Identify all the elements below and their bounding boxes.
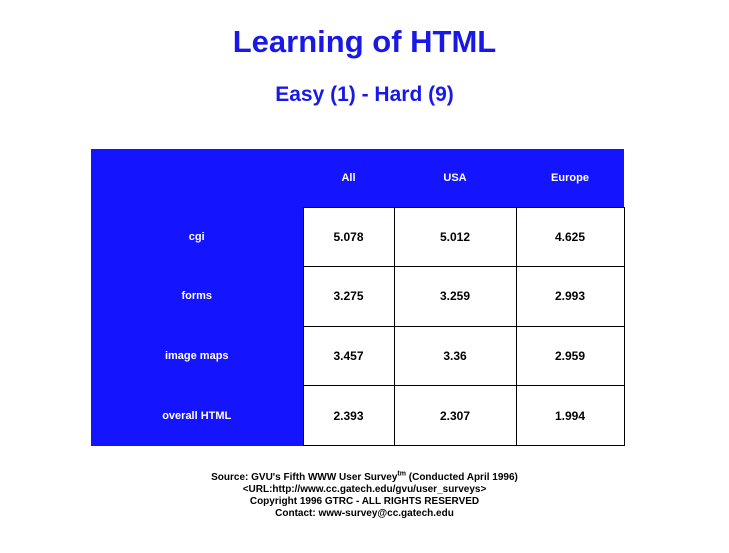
cell-image-maps-all: 3.457 <box>303 326 394 386</box>
cell-cgi-usa: 5.012 <box>394 207 516 267</box>
column-header-all: All <box>303 149 394 207</box>
learning-of-html-table: All USA Europe cgi 5.078 5.012 4.625 for… <box>91 149 625 446</box>
page-title: Learning of HTML <box>0 24 729 60</box>
footer-source-date: (Conducted April 1996) <box>406 472 518 483</box>
cell-forms-europe: 2.993 <box>516 267 624 327</box>
cell-image-maps-usa: 3.36 <box>394 326 516 386</box>
table-header-row: All USA Europe <box>91 149 624 207</box>
cell-cgi-europe: 4.625 <box>516 207 624 267</box>
column-header-usa: USA <box>394 149 516 207</box>
footer-source-line: Source: GVU's Fifth WWW User Surveytm (C… <box>0 472 729 484</box>
footer-credits: Source: GVU's Fifth WWW User Surveytm (C… <box>0 472 729 520</box>
table-row: overall HTML 2.393 2.307 1.994 <box>91 386 624 446</box>
cell-overall-html-europe: 1.994 <box>516 386 624 446</box>
footer-source-text: Source: GVU's Fifth WWW User Survey <box>211 472 397 483</box>
trademark-mark: tm <box>397 471 406 478</box>
table-row: image maps 3.457 3.36 2.959 <box>91 326 624 386</box>
cell-overall-html-usa: 2.307 <box>394 386 516 446</box>
cell-forms-usa: 3.259 <box>394 267 516 327</box>
table-row: cgi 5.078 5.012 4.625 <box>91 207 624 267</box>
row-label-cgi: cgi <box>91 207 303 267</box>
table-corner-cell <box>91 149 303 207</box>
footer-url-line: <URL:http://www.cc.gatech.edu/gvu/user_s… <box>0 484 729 496</box>
footer-copyright-line: Copyright 1996 GTRC - ALL RIGHTS RESERVE… <box>0 496 729 508</box>
cell-cgi-all: 5.078 <box>303 207 394 267</box>
data-table-container: All USA Europe cgi 5.078 5.012 4.625 for… <box>91 149 624 446</box>
page-subtitle: Easy (1) - Hard (9) <box>0 82 729 108</box>
cell-image-maps-europe: 2.959 <box>516 326 624 386</box>
row-label-overall-html: overall HTML <box>91 386 303 446</box>
row-label-forms: forms <box>91 267 303 327</box>
footer-contact-line: Contact: www-survey@cc.gatech.edu <box>0 508 729 520</box>
cell-overall-html-all: 2.393 <box>303 386 394 446</box>
table-row: forms 3.275 3.259 2.993 <box>91 267 624 327</box>
column-header-europe: Europe <box>516 149 624 207</box>
cell-forms-all: 3.275 <box>303 267 394 327</box>
row-label-image-maps: image maps <box>91 326 303 386</box>
